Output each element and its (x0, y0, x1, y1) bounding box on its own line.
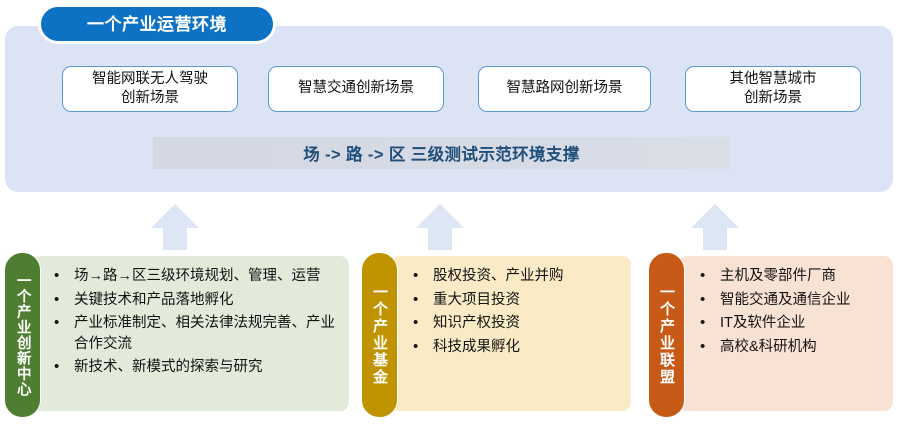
header-pill-label: 一个产业运营环境 (87, 16, 227, 33)
up-arrow-icon (149, 200, 201, 252)
list-item: 高校&科研机构 (696, 337, 883, 358)
list-item: 重大项目投资 (409, 290, 621, 311)
list-item: IT及软件企业 (696, 313, 883, 334)
pillar-body: 主机及零部件厂商 智能交通及通信企业 IT及软件企业 高校&科研机构 (678, 256, 893, 411)
pillar-tab-label: 一个产业创新中心 (15, 273, 30, 397)
up-arrow-icon (414, 200, 466, 252)
list-item: 科技成果孵化 (409, 337, 621, 358)
list-item: 知识产权投资 (409, 313, 621, 334)
support-banner-label: 场 -> 路 -> 区 三级测试示范环境支撑 (303, 141, 579, 165)
three-level-test-support-banner: 场 -> 路 -> 区 三级测试示范环境支撑 (153, 137, 730, 169)
bullet-list: 股权投资、产业并购 重大项目投资 知识产权投资 科技成果孵化 (409, 266, 621, 357)
pillar-industry-fund: 股权投资、产业并购 重大项目投资 知识产权投资 科技成果孵化 一个产业基金 (361, 252, 631, 418)
pillar-tab-industry-fund: 一个产业基金 (361, 252, 398, 418)
list-item: 场→路→区三级环境规划、管理、运营 (50, 266, 339, 287)
pillar-tab-industry-innovation-center: 一个产业创新中心 (4, 252, 41, 418)
list-item: 关键技术和产品落地孵化 (50, 290, 339, 311)
pillar-body: 股权投资、产业并购 重大项目投资 知识产权投资 科技成果孵化 (391, 256, 631, 411)
pillar-industry-alliance: 主机及零部件厂商 智能交通及通信企业 IT及软件企业 高校&科研机构 一个产业联… (648, 252, 893, 418)
pillar-tab-label: 一个产业基金 (372, 284, 387, 386)
bullet-list: 场→路→区三级环境规划、管理、运营 关键技术和产品落地孵化 产业标准制定、相关法… (50, 266, 339, 378)
list-item: 新技术、新模式的探索与研究 (50, 357, 339, 378)
scene-box-label: 其他智慧城市 创新场景 (730, 70, 817, 108)
scene-box-intelligent-connected-driving: 智能网联无人驾驶 创新场景 (62, 66, 238, 112)
scene-box-label: 智能网联无人驾驶 创新场景 (92, 70, 208, 108)
list-item: 股权投资、产业并购 (409, 266, 621, 287)
list-item: 主机及零部件厂商 (696, 266, 883, 287)
pillar-body: 场→路→区三级环境规划、管理、运营 关键技术和产品落地孵化 产业标准制定、相关法… (32, 256, 349, 411)
diagram-canvas: 一个产业运营环境 智能网联无人驾驶 创新场景 智慧交通创新场景 智慧路网创新场景… (0, 0, 899, 424)
scene-box-other-smart-city: 其他智慧城市 创新场景 (685, 66, 861, 112)
scene-box-label: 智慧路网创新场景 (507, 79, 623, 98)
bullet-list: 主机及零部件厂商 智能交通及通信企业 IT及软件企业 高校&科研机构 (696, 266, 883, 357)
scene-box-smart-road-network: 智慧路网创新场景 (478, 66, 651, 112)
pillar-industry-innovation-center: 场→路→区三级环境规划、管理、运营 关键技术和产品落地孵化 产业标准制定、相关法… (4, 252, 349, 418)
scene-box-smart-transportation: 智慧交通创新场景 (268, 66, 444, 112)
scene-box-label: 智慧交通创新场景 (298, 79, 414, 98)
pillar-tab-label: 一个产业联盟 (659, 284, 674, 386)
list-item: 智能交通及通信企业 (696, 290, 883, 311)
pillar-tab-industry-alliance: 一个产业联盟 (648, 252, 685, 418)
header-pill-industry-operating-environment: 一个产业运营环境 (38, 4, 276, 44)
up-arrow-icon (689, 200, 741, 252)
list-item: 产业标准制定、相关法律法规完善、产业合作交流 (50, 313, 339, 354)
